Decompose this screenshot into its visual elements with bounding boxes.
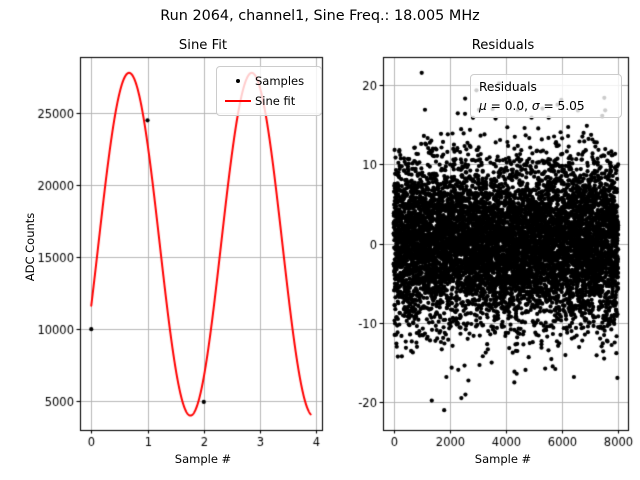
right-plot-legend: Residuals μ = 0.0, σ = 5.05	[470, 74, 622, 118]
legend-title-residuals: Residuals	[479, 78, 613, 97]
legend-label-samples: Samples	[253, 74, 304, 88]
legend-label-sine-fit: Sine fit	[253, 94, 295, 108]
left-plot-legend: Samples Sine fit	[216, 66, 322, 116]
legend-stats-residuals: μ = 0.0, σ = 5.05	[479, 97, 613, 116]
legend-entry-sine-fit: Sine fit	[223, 91, 315, 111]
legend-entry-samples: Samples	[223, 71, 315, 91]
sine-fit-line-icon	[223, 100, 253, 102]
samples-marker-icon	[223, 79, 253, 83]
figure-canvas-container: Run 2064, channel1, Sine Freq.: 18.005 M…	[0, 0, 640, 480]
